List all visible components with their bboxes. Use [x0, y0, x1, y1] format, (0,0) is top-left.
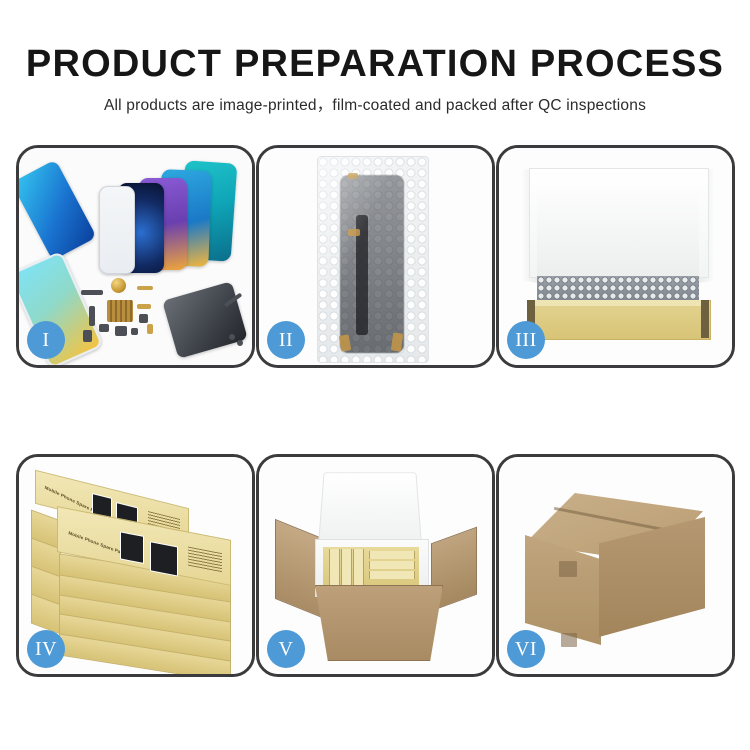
page-title: PRODUCT PREPARATION PROCESS [0, 0, 750, 86]
step-card-3[interactable]: III [496, 145, 735, 368]
step-card-6[interactable]: VI [496, 454, 735, 677]
step-badge-4: IV [27, 630, 65, 668]
page-subtitle: All products are image-printed，film-coat… [0, 86, 750, 116]
step-badge-2: II [267, 321, 305, 359]
step-badge-5: V [267, 630, 305, 668]
step-card-4[interactable]: Mobile Phone Spare Parts Mobile Phone Sp… [16, 454, 255, 677]
step-badge-6: VI [507, 630, 545, 668]
page-header: PRODUCT PREPARATION PROCESS All products… [0, 0, 750, 116]
process-steps-grid: I II [16, 145, 735, 677]
box-label-front: Mobile Phone Spare Parts [68, 530, 127, 556]
step-badge-3: III [507, 321, 545, 359]
step-card-5[interactable]: V [256, 454, 495, 677]
step-badge-1: I [27, 321, 65, 359]
step-card-2[interactable]: II [256, 145, 495, 368]
step-card-1[interactable]: I [16, 145, 255, 368]
